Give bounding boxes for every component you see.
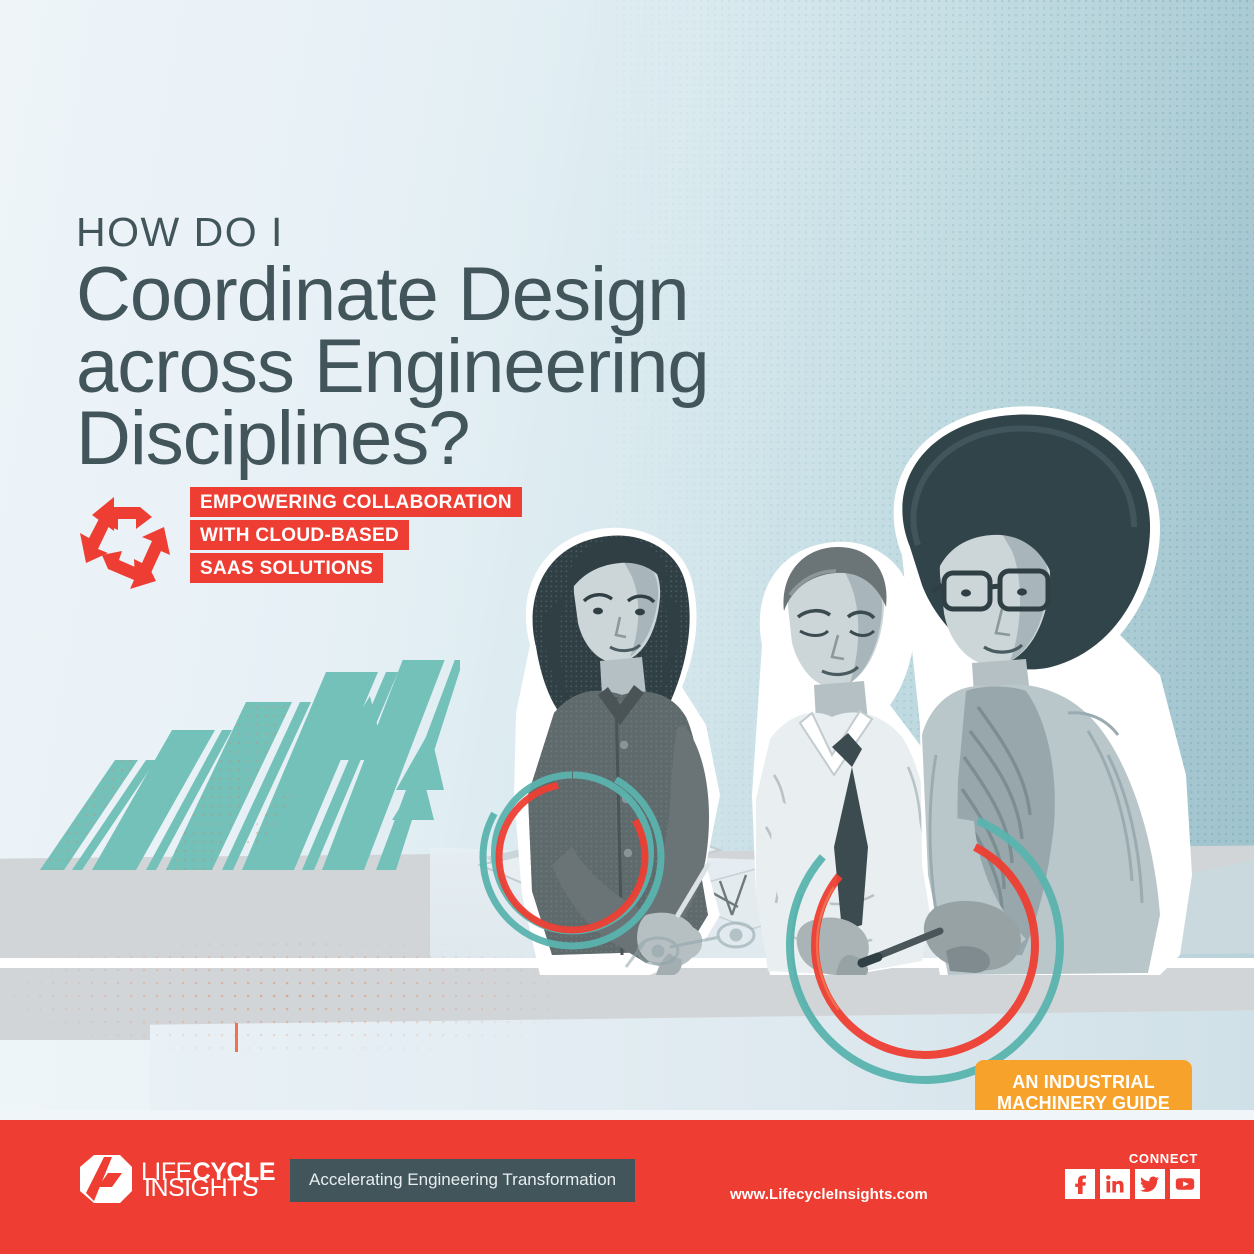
desk-band-upper [0,845,1254,967]
twitter-icon [1140,1174,1160,1194]
badge-line-2: MACHINERY GUIDE [997,1093,1170,1114]
title-line-1: Coordinate Design [76,259,876,331]
subtitle-tag-stack: EMPOWERING COLLABORATION WITH CLOUD-BASE… [190,487,522,583]
subtitle-tag-3: SAAS SOLUTIONS [190,553,383,583]
facebook-icon [1070,1174,1090,1194]
facebook-link[interactable] [1065,1169,1095,1199]
headline-block: HOW DO I Coordinate Design across Engine… [76,212,876,476]
desk-band-lower [0,968,1254,1064]
logo-insights-text: INSIGHTS [141,1176,275,1201]
website-url[interactable]: www.LifecycleInsights.com [730,1186,928,1203]
cover-page: HOW DO I Coordinate Design across Engine… [0,0,1254,1254]
title-line-2: across Engineering [76,331,876,403]
headline-eyebrow: HOW DO I [76,212,876,253]
youtube-icon [1175,1174,1195,1194]
orange-halftone-texture [0,930,760,1060]
background-wedge-right [954,860,1254,1010]
connect-block: CONNECT [1065,1151,1200,1199]
three-people-collaborating-illustration [470,395,1210,975]
youtube-link[interactable] [1170,1169,1200,1199]
linkedin-link[interactable] [1100,1169,1130,1199]
white-divider-band [0,958,1254,969]
connect-label: CONNECT [1065,1151,1200,1166]
subtitle-tag-2: WITH CLOUD-BASED [190,520,409,550]
tagline-box: Accelerating Engineering Transformation [290,1159,635,1202]
slanted-bar-chart-decoration [30,660,460,875]
linkedin-icon [1105,1174,1125,1194]
cycle-arrows-icon [78,485,178,590]
badge-line-1: AN INDUSTRIAL [997,1072,1170,1093]
subtitle-tag-1: EMPOWERING COLLABORATION [190,487,522,517]
title-line-3: Disciplines? [76,403,876,475]
lifecycle-hex-logo-icon [78,1153,134,1205]
guide-type-badge: AN INDUSTRIAL MACHINERY GUIDE [975,1060,1192,1126]
page-title: Coordinate Design across Engineering Dis… [76,259,876,476]
lifecycle-insights-logo[interactable]: LIFECYCLE INSIGHTS [78,1153,275,1205]
social-links-row [1065,1169,1200,1199]
orange-tick-mark [235,1023,238,1052]
twitter-link[interactable] [1135,1169,1165,1199]
logo-wordmark: LIFECYCLE INSIGHTS [141,1158,275,1201]
table-top-plane [430,847,990,1019]
